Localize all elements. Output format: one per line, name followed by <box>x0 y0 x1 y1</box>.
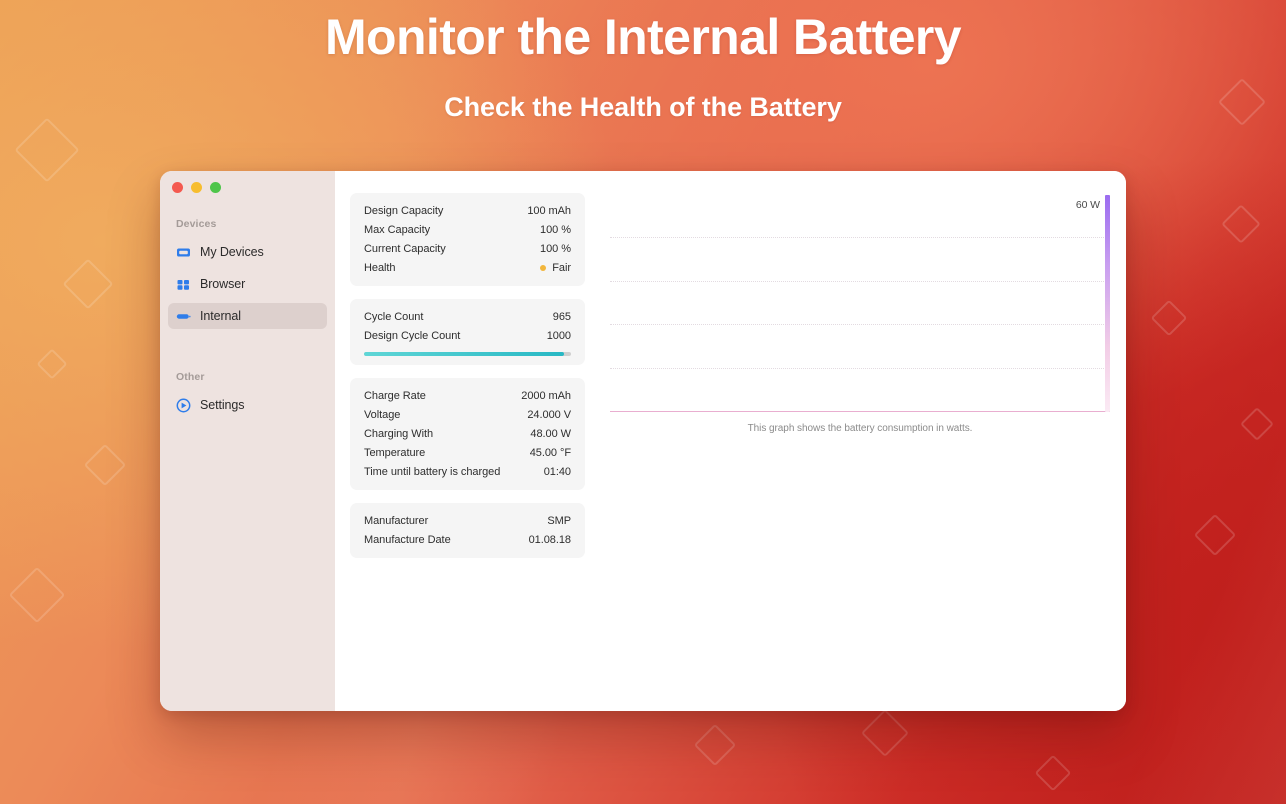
row-key: Manufacture Date <box>364 534 451 546</box>
sidebar: Devices My Devices <box>160 171 335 711</box>
row-key: Design Cycle Count <box>364 330 460 342</box>
graph-peak-label: 60 W <box>1076 199 1100 211</box>
minimize-button[interactable] <box>191 182 202 193</box>
row-key: Manufacturer <box>364 515 428 527</box>
battery-icon <box>176 309 191 324</box>
row-value: 100 % <box>540 243 571 255</box>
row-value: 48.00 W <box>530 428 571 440</box>
detail-row: Design Cycle Count 1000 <box>364 326 571 345</box>
window-traffic-lights <box>160 171 335 193</box>
battery-details-column: Design Capacity 100 mAh Max Capacity 100… <box>350 193 585 711</box>
row-value: 100 % <box>540 224 571 236</box>
row-key: Temperature <box>364 447 425 459</box>
desktop-background: Monitor the Internal Battery Check the H… <box>0 0 1286 804</box>
detail-row: Temperature 45.00 °F <box>364 443 571 462</box>
detail-row: Voltage 24.000 V <box>364 405 571 424</box>
detail-row: Max Capacity 100 % <box>364 220 571 239</box>
detail-row: Manufacture Date 01.08.18 <box>364 530 571 549</box>
decorative-diamond <box>1194 514 1236 556</box>
sidebar-item-browser[interactable]: Browser <box>168 271 327 297</box>
sidebar-group-other: Settings <box>160 392 335 418</box>
detail-row-health: Health Fair <box>364 258 571 277</box>
row-value: SMP <box>547 515 571 527</box>
charging-panel: Charge Rate 2000 mAh Voltage 24.000 V Ch… <box>350 378 585 490</box>
decorative-diamond <box>1151 300 1188 337</box>
power-circle-icon <box>176 398 191 413</box>
grid-squares-icon <box>176 277 191 292</box>
row-value: 965 <box>553 311 571 323</box>
row-value-health: Fair <box>540 262 571 274</box>
display-icon <box>176 245 191 260</box>
detail-row: Charging With 48.00 W <box>364 424 571 443</box>
decorative-diamond <box>1221 204 1261 244</box>
page-subtitle: Check the Health of the Battery <box>0 92 1286 123</box>
close-button[interactable] <box>172 182 183 193</box>
graph-gridline <box>610 281 1110 282</box>
detail-row: Cycle Count 965 <box>364 307 571 326</box>
decorative-diamond <box>861 709 909 757</box>
sidebar-section-header-devices: Devices <box>160 218 335 230</box>
decorative-diamond <box>14 117 79 182</box>
row-key: Health <box>364 262 396 274</box>
decorative-diamond <box>1035 755 1072 792</box>
row-key: Voltage <box>364 409 400 421</box>
consumption-graph-column: 60 W This graph shows the battery consum… <box>585 193 1110 711</box>
decorative-diamond <box>84 444 126 486</box>
detail-row: Time until battery is charged 01:40 <box>364 462 571 481</box>
sidebar-item-internal[interactable]: Internal <box>168 303 327 329</box>
row-value: 01:40 <box>544 466 571 478</box>
row-key: Design Capacity <box>364 205 443 217</box>
app-window: Devices My Devices <box>160 171 1126 711</box>
sidebar-item-my-devices[interactable]: My Devices <box>168 239 327 265</box>
graph-baseline <box>610 411 1110 413</box>
cycle-progress-fill <box>364 352 564 356</box>
sidebar-section-header-other: Other <box>160 371 335 383</box>
decorative-diamond <box>63 259 114 310</box>
row-key: Charge Rate <box>364 390 426 402</box>
detail-row: Design Capacity 100 mAh <box>364 201 571 220</box>
row-value: 45.00 °F <box>530 447 571 459</box>
graph-gridline <box>610 237 1110 238</box>
cycle-progress-bar <box>364 352 571 356</box>
status-badge-dot <box>540 265 546 271</box>
row-key: Cycle Count <box>364 311 423 323</box>
capacity-panel: Design Capacity 100 mAh Max Capacity 100… <box>350 193 585 286</box>
sidebar-item-label: Browser <box>200 277 245 291</box>
maximize-button[interactable] <box>210 182 221 193</box>
row-key: Max Capacity <box>364 224 430 236</box>
sidebar-item-label: Internal <box>200 309 241 323</box>
main-content: Design Capacity 100 mAh Max Capacity 100… <box>335 171 1126 711</box>
graph-peak-bar <box>1105 195 1110 412</box>
row-value: 1000 <box>547 330 571 342</box>
health-status-text: Fair <box>552 262 571 274</box>
manufacturer-panel: Manufacturer SMP Manufacture Date 01.08.… <box>350 503 585 558</box>
decorative-diamond <box>9 567 66 624</box>
graph-caption: This graph shows the battery consumption… <box>610 423 1110 434</box>
row-value: 2000 mAh <box>521 390 571 402</box>
sidebar-item-label: Settings <box>200 398 244 412</box>
detail-row: Charge Rate 2000 mAh <box>364 386 571 405</box>
row-value: 100 mAh <box>527 205 571 217</box>
decorative-diamond <box>694 724 736 766</box>
cycle-panel: Cycle Count 965 Design Cycle Count 1000 <box>350 299 585 365</box>
battery-consumption-graph: 60 W <box>610 195 1110 412</box>
sidebar-group-devices: My Devices Browser <box>160 239 335 329</box>
row-value: 01.08.18 <box>529 534 571 546</box>
row-key: Charging With <box>364 428 433 440</box>
decorative-diamond <box>36 348 67 379</box>
graph-gridline <box>610 324 1110 325</box>
sidebar-item-settings[interactable]: Settings <box>168 392 327 418</box>
row-key: Time until battery is charged <box>364 466 500 478</box>
decorative-diamond <box>1240 407 1274 441</box>
sidebar-item-label: My Devices <box>200 245 264 259</box>
detail-row: Manufacturer SMP <box>364 511 571 530</box>
row-key: Current Capacity <box>364 243 446 255</box>
graph-gridline <box>610 368 1110 369</box>
page-title: Monitor the Internal Battery <box>0 8 1286 66</box>
detail-row: Current Capacity 100 % <box>364 239 571 258</box>
row-value: 24.000 V <box>527 409 571 421</box>
